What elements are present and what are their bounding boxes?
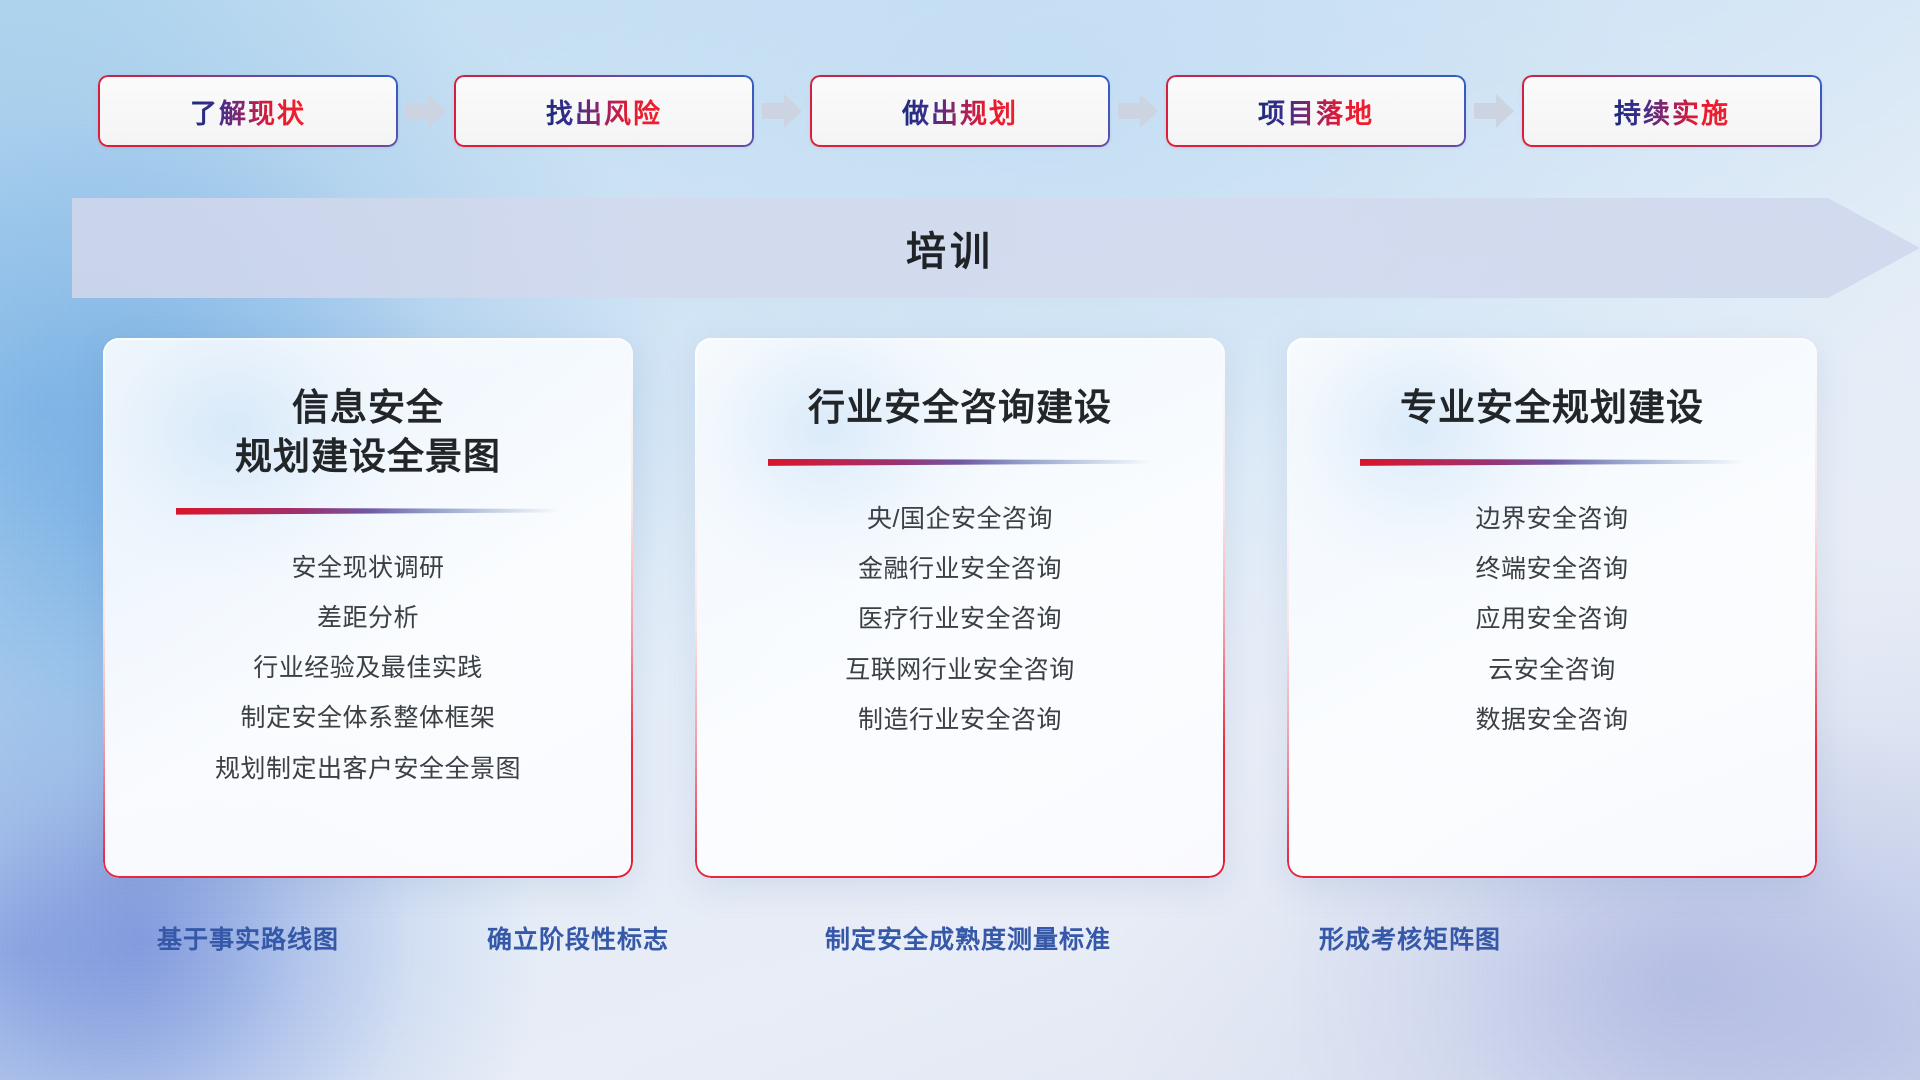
card-divider-2 xyxy=(768,459,1152,466)
step-box-1[interactable]: 了解现状 xyxy=(98,75,398,147)
chevron-right-arrow-icon xyxy=(1110,88,1166,134)
step-label-1: 了解现状 xyxy=(190,92,306,131)
list-item: 央/国企安全咨询 xyxy=(867,504,1053,535)
card-list-1: 安全现状调研 差距分析 行业经验及最佳实践 制定安全体系整体框架 规划制定出客户… xyxy=(137,553,599,785)
card-divider-1 xyxy=(176,508,560,515)
footnote-4: 形成考核矩阵图 xyxy=(1319,920,1501,956)
step-label-2: 找出风险 xyxy=(546,92,662,131)
list-item: 互联网行业安全咨询 xyxy=(845,655,1075,686)
list-item: 安全现状调研 xyxy=(291,553,444,584)
footnote-3: 制定安全成熟度测量标准 xyxy=(825,920,1111,956)
list-item: 云安全咨询 xyxy=(1488,655,1616,686)
step-box-4[interactable]: 项目落地 xyxy=(1166,75,1466,147)
footnote-2: 确立阶段性标志 xyxy=(487,920,669,956)
step-label-3: 做出规划 xyxy=(902,92,1018,131)
process-step-row: 了解现状 找出风险 做出规划 项目落地 持续实施 xyxy=(0,75,1920,147)
list-item: 应用安全咨询 xyxy=(1475,604,1628,635)
list-item: 规划制定出客户安全全景图 xyxy=(215,754,521,785)
card-title-1: 信息安全 规划建设全景图 xyxy=(137,384,599,482)
card-1[interactable]: 信息安全 规划建设全景图 安全现状调研 差距分析 行业经验及最佳实践 制定安全体… xyxy=(103,338,633,878)
card-title-2: 行业安全咨询建设 xyxy=(729,384,1191,433)
list-item: 行业经验及最佳实践 xyxy=(253,653,483,684)
step-label-4: 项目落地 xyxy=(1258,92,1374,131)
list-item: 终端安全咨询 xyxy=(1475,554,1628,585)
list-item: 边界安全咨询 xyxy=(1475,504,1628,535)
card-2[interactable]: 行业安全咨询建设 央/国企安全咨询 金融行业安全咨询 医疗行业安全咨询 互联网行… xyxy=(695,338,1225,878)
card-divider-3 xyxy=(1360,459,1744,466)
step-box-5[interactable]: 持续实施 xyxy=(1522,75,1822,147)
footnote-1: 基于事实路线图 xyxy=(157,920,339,956)
chevron-right-arrow-icon xyxy=(398,88,454,134)
training-banner-title: 培训 xyxy=(72,198,1920,298)
card-list-2: 央/国企安全咨询 金融行业安全咨询 医疗行业安全咨询 互联网行业安全咨询 制造行… xyxy=(729,504,1191,736)
list-item: 制造行业安全咨询 xyxy=(858,705,1062,736)
step-box-2[interactable]: 找出风险 xyxy=(454,75,754,147)
step-box-3[interactable]: 做出规划 xyxy=(810,75,1110,147)
chevron-right-arrow-icon xyxy=(1466,88,1522,134)
list-item: 金融行业安全咨询 xyxy=(858,554,1062,585)
list-item: 制定安全体系整体框架 xyxy=(240,703,495,734)
card-list-3: 边界安全咨询 终端安全咨询 应用安全咨询 云安全咨询 数据安全咨询 xyxy=(1321,504,1783,736)
list-item: 医疗行业安全咨询 xyxy=(858,604,1062,635)
list-item: 差距分析 xyxy=(317,603,419,634)
footnote-row: 基于事实路线图 确立阶段性标志 制定安全成熟度测量标准 形成考核矩阵图 xyxy=(0,920,1920,970)
chevron-right-arrow-icon xyxy=(754,88,810,134)
training-banner: 培训 xyxy=(72,198,1920,298)
card-title-3: 专业安全规划建设 xyxy=(1321,384,1783,433)
card-3[interactable]: 专业安全规划建设 边界安全咨询 终端安全咨询 应用安全咨询 云安全咨询 数据安全… xyxy=(1287,338,1817,878)
card-row: 信息安全 规划建设全景图 安全现状调研 差距分析 行业经验及最佳实践 制定安全体… xyxy=(0,338,1920,878)
step-label-5: 持续实施 xyxy=(1614,92,1730,131)
list-item: 数据安全咨询 xyxy=(1475,705,1628,736)
